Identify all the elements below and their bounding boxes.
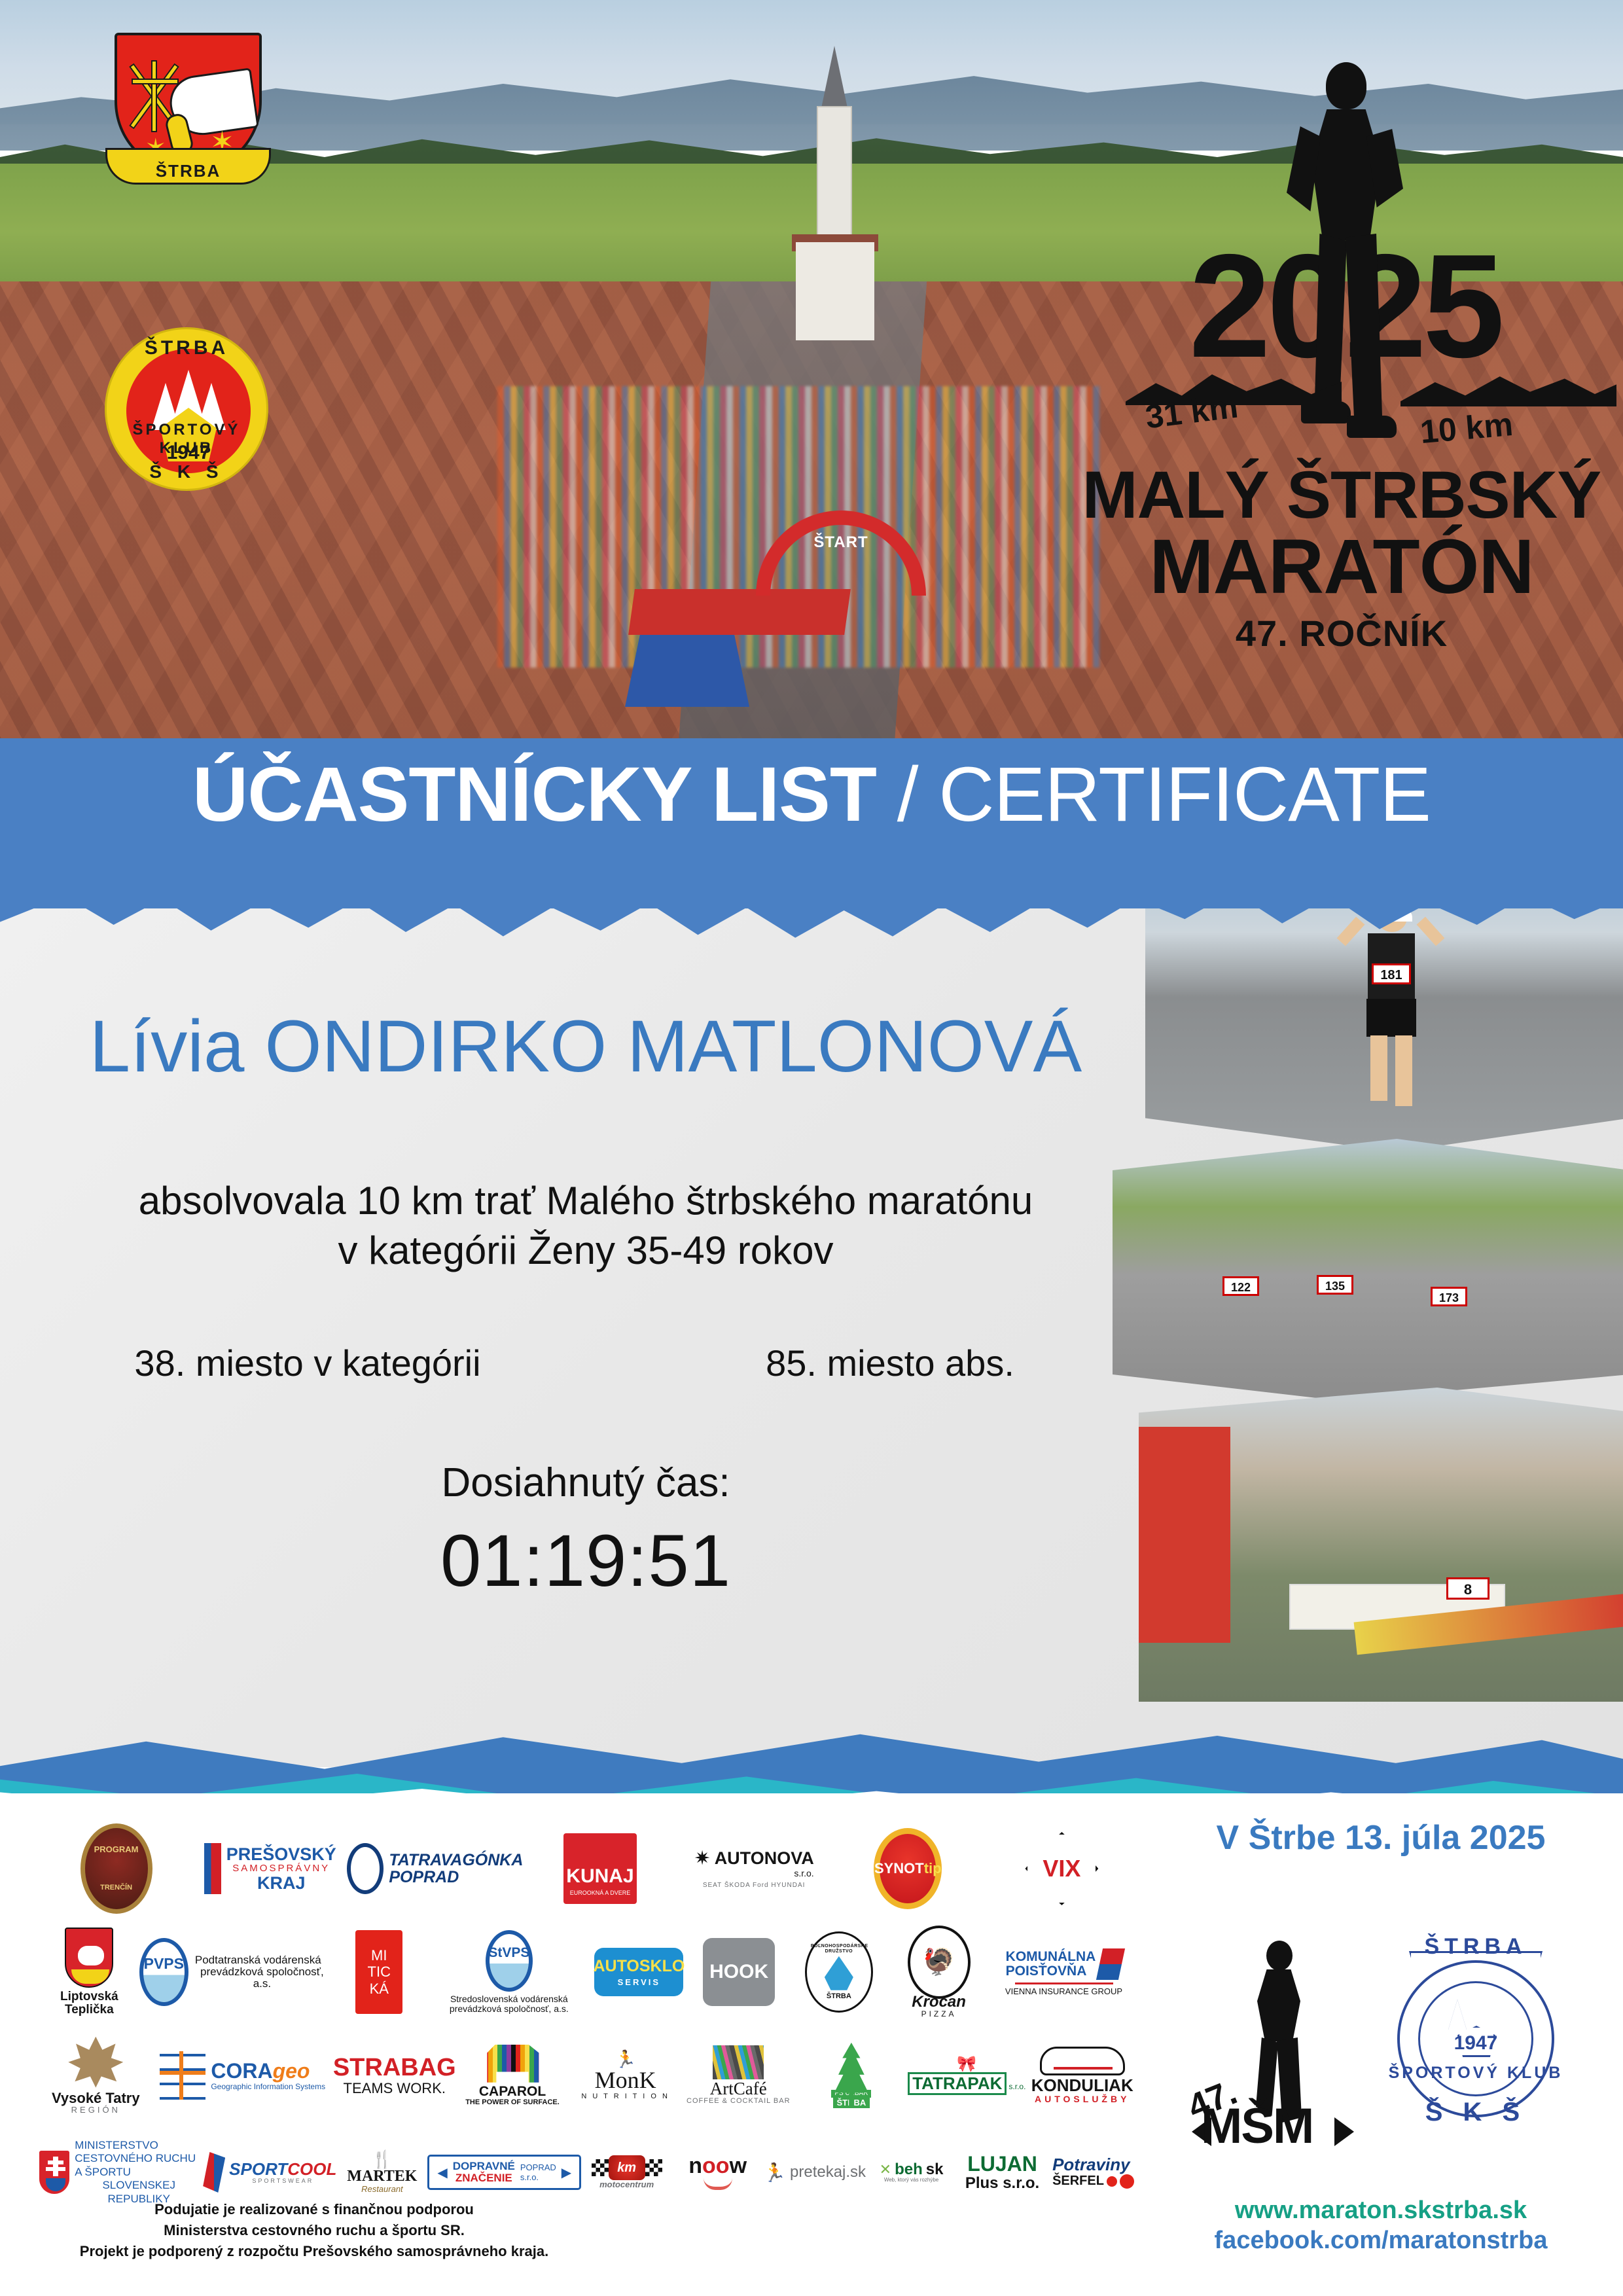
absolute-place: 85. miesto abs. (654, 1342, 1126, 1384)
sponsor-konduliak[interactable]: KONDULIAK AUTOSLUŽBY (1026, 2026, 1139, 2125)
crest-cross-horizontal (132, 79, 179, 84)
sponsor-monk-nutrition[interactable]: 🏃 MonK N U T R I T I O N (569, 2026, 682, 2125)
sponsor-label: POĽNOHOSPODÁRSKE DRUŽSTVO (811, 1944, 867, 1954)
strba-municipal-crest: ✶ ✶ ✶ ŠTRBA (115, 33, 262, 190)
sponsor-label: Potraviny (1052, 2156, 1130, 2174)
sponsor-miticka[interactable]: MI TIC KÁ (329, 1923, 429, 2021)
msm-word: MŠM (1201, 2098, 1313, 2155)
sponsor-tatrapak[interactable]: 🎀 TATRAPAK s.r.o. (908, 2026, 1026, 2125)
sponsor-label: SYNOT (874, 1860, 924, 1877)
runner-leg-right (1346, 234, 1382, 423)
sponsor-krocan-pizza[interactable]: 🦃 Krocan PIZZA (889, 1923, 989, 2021)
footer-right-column: V Štrbe 13. júla 2025 47. MŠM ŠTRBA (1165, 1806, 1597, 2278)
sponsor-label: TATRAPAK (908, 2072, 1007, 2095)
red-inflatable-arch (1139, 1427, 1230, 1643)
runner-torso (1311, 109, 1381, 240)
sponsor-hook[interactable]: HOOK (689, 1923, 789, 2021)
sponsor-km-motocentrum[interactable]: km motocentrum (581, 2130, 672, 2215)
komunalna-flag-icon (1096, 1948, 1125, 1980)
page-title-en: CERTIFICATE (938, 751, 1431, 838)
runner-leg-right (1395, 1035, 1412, 1106)
sponsor-sublabel2: Web, ktorý vás rozhýbe (884, 2178, 938, 2183)
runner-shorts (1366, 999, 1416, 1037)
sponsor-sublabel: SERVIS (618, 1977, 660, 1987)
race-title-line1: MALÝ ŠTRBSKÝ (1073, 461, 1610, 528)
sponsor-sublabel: sk (926, 2161, 944, 2178)
runner-arm-left (1337, 917, 1365, 946)
runners-icon: 🏃 (763, 2162, 786, 2183)
sponsor-sublabel2: SPORTSWEAR (252, 2178, 313, 2184)
disclaimer-line-2: Ministerstva cestovného ruchu a športu S… (39, 2220, 589, 2241)
funding-disclaimer: Podujatie je realizované s finančnou pod… (39, 2199, 589, 2262)
sponsor-presovsky-kraj[interactable]: PREŠOVSKÝ SAMOSPRÁVNY KRAJ (193, 1820, 347, 1918)
sponsor-label: PREŠOVSKÝ (226, 1845, 336, 1863)
photo-finish-tape: 8 (1139, 1388, 1623, 1702)
sportcool-swoosh-icon (203, 2152, 225, 2193)
psk-flag-icon (204, 1843, 221, 1894)
achievement-line-2: v kategórii Ženy 35-49 rokov (0, 1228, 1171, 1273)
crest-ribbon-label: ŠTRBA (105, 148, 271, 185)
sponsor-row-1: PROGRAM TRENČÍN PREŠOVSKÝ SAMOSPRÁVNY KR… (39, 1820, 1139, 1918)
finish-time-value: 01:19:51 (0, 1518, 1171, 1603)
sponsor-label: KUNAJ (566, 1865, 633, 1888)
sponsor-label: beh (895, 2161, 923, 2178)
blue-tent (625, 635, 749, 707)
sponsor-label: DOPRAVNÉ (453, 2161, 515, 2172)
sponsor-label: AUTONOVA (715, 1849, 814, 1867)
sponsor-sublabel2: prevádzková spoločnosť, a.s. (450, 2004, 569, 2014)
sponsor-label: StVPS (488, 1946, 529, 1960)
checker-flag-right-icon (645, 2159, 662, 2176)
sponsor-label: HOOK (709, 1961, 768, 1983)
sponsor-sublabel: s.r.o. (794, 1869, 813, 1878)
sponsor-sublabel: AUTOSLUŽBY (1035, 2094, 1130, 2104)
sponsor-label: TATRAVAGÓNKA (389, 1852, 523, 1869)
runner-head (1326, 62, 1366, 109)
sponsor-lujan-plus[interactable]: LUJAN Plus s.r.o. (957, 2130, 1048, 2215)
arrow-right-icon: ▶ (562, 2164, 571, 2181)
sponsor-sublabel: EUROOKNÁ A DVERE (570, 1890, 631, 1896)
sponsor-sublabel2: prevádzková spoločnosť, a.s. (195, 1966, 329, 1990)
page-title-sk: ÚČASTNÍCKY LIST (192, 751, 876, 838)
footer-logos: 47. MŠM ŠTRBA 1947 ŠPORTOVÝ KLUB Š K Š (1178, 1924, 1584, 2160)
race-logo: 2025 31 km 10 km MALÝ ŠTRBSKÝ MARATÓN 47… (1073, 36, 1610, 612)
sponsor-sublabel: THE POWER OF SURFACE. (465, 2099, 560, 2107)
runner-figure: 181 (1348, 903, 1433, 1119)
sponsor-footer: PROGRAM TRENČÍN PREŠOVSKÝ SAMOSPRÁVNY KR… (0, 1793, 1623, 2296)
sponsor-label: CAPAROL (479, 2085, 546, 2099)
sponsor-label: AUTOSKLO (593, 1957, 685, 1975)
sks-bottom-label: ŠPORTOVÝ KLUB (107, 421, 266, 457)
sponsor-komunalna-poistovna[interactable]: KOMUNÁLNA POISŤOVŇA VIENNA INSURANCE GRO… (989, 1923, 1139, 2021)
sks-club-stamp: ŠTRBA 1947 ŠPORTOVÝ KLUB Š K Š (1378, 1934, 1574, 2150)
sponsor-strabag[interactable]: STRABAG TEAMS WORK. (333, 2026, 456, 2125)
sponsor-synottip[interactable]: SYNOTtip (831, 1820, 985, 1918)
sks-initials-label: Š K Š (107, 461, 266, 482)
time-label: Dosiahnutý čas: (0, 1460, 1171, 1506)
sponsor-pretekaj[interactable]: 🏃 pretekaj.sk (763, 2130, 866, 2215)
sponsor-sublabel: motocentrum (599, 2180, 654, 2189)
sponsor-artcafe[interactable]: ArtCafé COFFEE & COCKTAIL BAR (682, 2026, 795, 2125)
disclaimer-line-1: Podujatie je realizované s finančnou pod… (39, 2199, 589, 2220)
sponsor-sublabel: ŠERFEL (1052, 2174, 1104, 2188)
start-arch-label: ŠTART (802, 533, 880, 552)
runner-shoe-right (1347, 416, 1397, 438)
sponsor-row-2: Liptovská Teplička PVPS Podtatranská vod… (39, 1923, 1139, 2021)
sponsor-liptovska-teplicka[interactable]: Liptovská Teplička (39, 1923, 139, 2021)
msm-edition-logo: 47. MŠM (1188, 1934, 1358, 2150)
edelweiss-icon (68, 2037, 123, 2088)
smile-icon (704, 2178, 732, 2190)
disclaimer-line-3: Projekt je podporený z rozpočtu Prešovsk… (39, 2241, 589, 2262)
participant-name: Lívia ONDIRKO MATLONOVÁ (0, 1008, 1171, 1085)
sponsor-kunaj[interactable]: KUNAJ EUROOKNÁ A DVERE (523, 1820, 677, 1918)
msm-runner-torso (1257, 1969, 1300, 2041)
website-link[interactable]: www.maraton.skstrba.sk (1165, 2197, 1597, 2225)
sponsor-sublabel: ZNAČENIE (455, 2172, 512, 2184)
sponsor-label: STRABAG (333, 2055, 456, 2081)
sponsor-label: VIX (1043, 1855, 1080, 1882)
page-title: ÚČASTNÍCKY LIST / CERTIFICATE (0, 753, 1623, 838)
sponsor-label: MINISTERSTVO (75, 2139, 158, 2152)
car-outline-icon (1040, 2047, 1125, 2075)
slovak-coat-of-arms-icon (39, 2151, 69, 2194)
sponsor-grid: PROGRAM TRENČÍN PREŠOVSKÝ SAMOSPRÁVNY KR… (39, 1806, 1139, 2199)
sponsor-label: MARTEK (347, 2168, 417, 2185)
sponsor-sublabel: geo (273, 2059, 310, 2083)
sponsor-tatravagonka[interactable]: TATRAVAGÓNKA POPRAD (347, 1820, 523, 1918)
water-drop-icon (825, 1956, 853, 1990)
group-bib-2: 135 (1317, 1275, 1353, 1295)
corageo-grid-icon (160, 2051, 205, 2100)
sponsor-sublabel: Podtatranská vodárenská (195, 1954, 321, 1966)
sponsor-sublabel: REGIÓN (71, 2106, 120, 2115)
sponsor-row-3: Vysoké Tatry REGIÓN CORAgeo Geographic I… (39, 2026, 1139, 2125)
stamp-top-label: ŠTRBA (1378, 1934, 1574, 1960)
sponsor-sublabel: s.r.o. (1008, 2083, 1026, 2091)
sponsor-label: Krocan (912, 1994, 966, 2010)
runner-bib: 181 (1372, 963, 1411, 984)
group-bib-1: 122 (1222, 1276, 1259, 1296)
sponsor-vix[interactable]: VIX (985, 1820, 1139, 1918)
distance-short-label: 10 km (1419, 405, 1514, 451)
runner-leg-left (1370, 1035, 1387, 1101)
achievement-line-1: absolvovala 10 km trať Malého štrbského … (0, 1178, 1171, 1223)
sponsor-label: MI TIC KÁ (361, 1947, 397, 1997)
red-tent (628, 589, 851, 635)
sponsor-label: PVPS (144, 1955, 184, 1973)
liptovska-crest-icon (65, 1928, 113, 1988)
sponsor-label: SPORT (229, 2159, 287, 2179)
photo-collage: 181 122 135 173 8 (1113, 870, 1623, 1748)
race-title-line2: MARATÓN (1073, 528, 1610, 605)
caparol-elephant-icon (484, 2045, 541, 2083)
stamp-mountain-icon (1448, 1989, 1505, 2036)
sponsor-sublabel2: A ŠPORTU (75, 2166, 131, 2179)
sponsor-sublabel: POISŤOVŇA (1006, 1964, 1087, 1979)
sponsor-potraviny-serfel[interactable]: Potraviny ŠERFEL (1048, 2130, 1139, 2215)
sks-club-logo: ŠTRBA 1947 ŠPORTOVÝ KLUB Š K Š (105, 327, 268, 491)
sponsor-stvps[interactable]: StVPS Stredoslovenská vodárenská prevádz… (429, 1923, 589, 2021)
stamp-year-label: 1947 (1378, 2032, 1574, 2054)
sponsor-sublabel: ŠTRBA (827, 1992, 851, 2000)
winner-bib: 8 (1446, 1577, 1489, 1600)
sponsor-sublabel2: Geographic Information Systems (211, 2083, 325, 2091)
arrow-left-icon: ◀ (437, 2164, 447, 2181)
sponsor-sublabel: tip (924, 1860, 942, 1877)
sponsor-label: PROGRAM (94, 1845, 139, 1855)
sponsor-sublabel: COOL (287, 2159, 336, 2179)
sponsor-pd-strba[interactable]: POĽNOHOSPODÁRSKE DRUŽSTVO ŠTRBA (789, 1923, 889, 2021)
beh-figure-icon: ✕ (880, 2162, 891, 2177)
photo-uphill-group: 122 135 173 (1113, 1139, 1623, 1401)
facebook-link[interactable]: facebook.com/maratonstrba (1165, 2227, 1597, 2255)
runner-arm-right (1417, 917, 1445, 946)
sponsor-sublabel2: KRAJ (257, 1874, 306, 1892)
sponsor-sublabel: Stredoslovenská vodárenská (450, 1994, 568, 2004)
runner-arm-left (1287, 126, 1321, 211)
category-place: 38. miesto v kategórii (39, 1342, 576, 1384)
sponsor-sublabel: POPRAD (389, 1869, 459, 1886)
sponsor-label: Liptovská (60, 1990, 118, 2003)
sponsor-sublabel: Teplička (65, 2003, 114, 2017)
sponsor-autosklo[interactable]: AUTOSKLO SERVIS (589, 1923, 689, 2021)
sponsor-corageo[interactable]: CORAgeo Geographic Information Systems (152, 2026, 333, 2125)
group-bib-3: 173 (1431, 1287, 1467, 1306)
stamp-initials-label: Š K Š (1378, 2098, 1574, 2127)
sponsor-label: LUJAN (967, 2153, 1037, 2176)
sponsor-caparol[interactable]: CAPAROL THE POWER OF SURFACE. (456, 2026, 569, 2125)
turkey-icon: 🦃 (923, 1948, 955, 1976)
sponsor-sublabel: Restaurant (361, 2185, 403, 2194)
sponsor-behsk[interactable]: ✕ behsk Web, ktorý vás rozhýbe (866, 2130, 957, 2215)
sponsor-pvps[interactable]: PVPS Podtatranská vodárenská prevádzková… (139, 1923, 329, 2021)
tatravagonka-emblem-icon (347, 1843, 383, 1894)
sponsor-sublabel: COFFEE & COCKTAIL BAR (687, 2098, 791, 2106)
serfel-dot-1-icon (1107, 2176, 1117, 2187)
issue-date: V Štrbe 13. júla 2025 (1165, 1818, 1597, 1857)
autonova-star-icon: ✷ (694, 1848, 711, 1869)
msm-runner-head (1266, 1941, 1293, 1971)
crest-cross-vertical (151, 60, 157, 132)
msm-runner-icon (1239, 1941, 1317, 2085)
runner-leg-left (1313, 234, 1347, 410)
gift-bow-icon: 🎀 (957, 2056, 976, 2072)
sponsor-label: pretekaj.sk (790, 2163, 866, 2181)
sponsor-autonova[interactable]: ✷ AUTONOVA s.r.o. SEAT ŠKODA Ford HYUNDA… (677, 1820, 831, 1918)
sponsor-label: ArtCafé (710, 2079, 767, 2098)
sponsor-sublabel: N U T R I T I O N (581, 2093, 669, 2101)
sponsor-program-trencin[interactable]: PROGRAM TRENČÍN (39, 1820, 193, 1918)
cutlery-icon: 🍴 (372, 2151, 393, 2168)
church-building (792, 46, 877, 327)
race-edition-label: 47. ROČNÍK (1073, 612, 1610, 655)
sponsor-sublabel: PIZZA (921, 2010, 957, 2018)
msm-arrow-right-icon (1334, 2117, 1354, 2146)
autonova-brands-label: SEAT ŠKODA Ford HYUNDAI (703, 1882, 806, 1890)
page-title-separator: / (876, 751, 938, 838)
sks-top-label: ŠTRBA (107, 337, 266, 359)
sponsor-label: KONDULIAK (1031, 2077, 1133, 2094)
sponsor-label: KOMUNÁLNA (1006, 1950, 1096, 1964)
sponsor-label: MonK (595, 2068, 656, 2093)
church-nave (796, 242, 874, 340)
sponsor-label: km (617, 2161, 636, 2175)
sponsor-sublabel2: VIENNA INSURANCE GROUP (1005, 1987, 1122, 1996)
stamp-arc-label: ŠPORTOVÝ KLUB (1378, 2064, 1574, 2083)
sponsor-sublabel: CESTOVNÉHO RUCHU (75, 2152, 196, 2165)
sponsor-vysoke-tatry[interactable]: Vysoké Tatry REGIÓN (39, 2026, 152, 2125)
church-spire (821, 46, 847, 108)
sponsor-sublabel: TRENČÍN (100, 1884, 132, 1892)
sponsor-sublabel: Plus s.r.o. (965, 2175, 1039, 2191)
sponsor-label: Vysoké Tatry (52, 2090, 140, 2106)
checker-flag-left-icon (592, 2159, 609, 2176)
sponsor-ps-urbar[interactable]: PS URBÁR ŠTRBA (795, 2026, 908, 2125)
divider (1015, 1982, 1113, 1984)
artcafe-stripes-icon (713, 2045, 764, 2079)
sponsor-sublabel: SAMOSPRÁVNY (232, 1863, 330, 1874)
sponsor-sublabel: TEAMS WORK. (344, 2081, 446, 2096)
sponsor-label: CORA (211, 2059, 272, 2083)
monk-figure-icon: 🏃 (615, 2051, 635, 2068)
sponsor-sublabel2: POPRAD s.r.o. (520, 2162, 556, 2182)
serfel-dot-2-icon (1120, 2174, 1134, 2189)
sponsor-noow[interactable]: noow noow (672, 2130, 763, 2215)
